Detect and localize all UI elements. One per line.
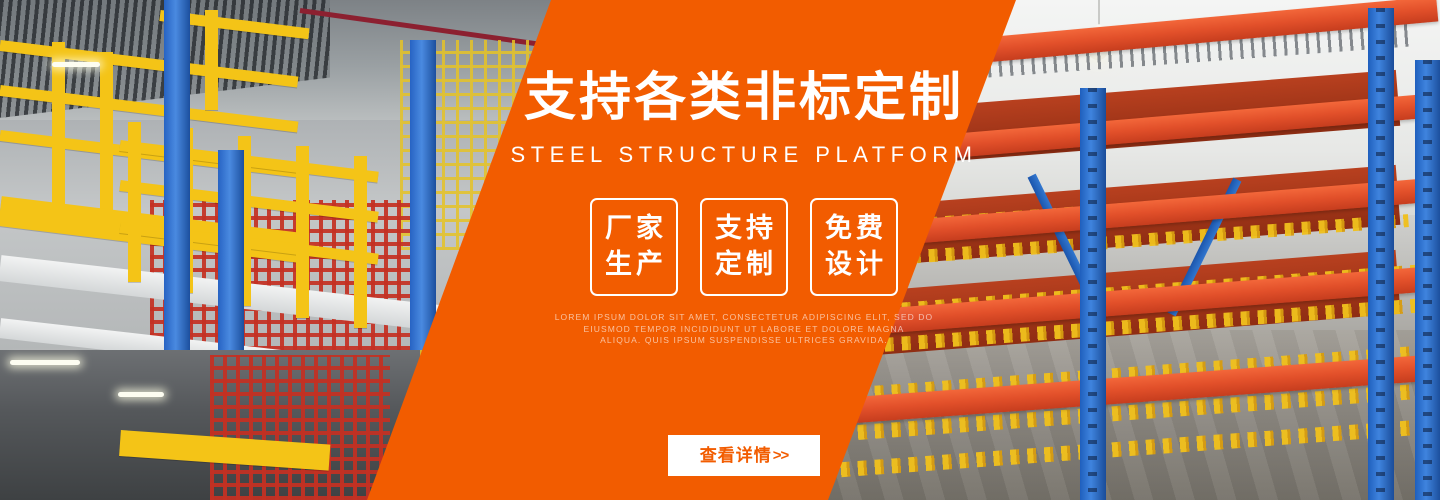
description-line-3: ALIQUA. QUIS IPSUM SUSPENDISSE ULTRICES …	[48, 335, 1440, 347]
banner-content: 支持各类非标定制 STEEL STRUCTURE PLATFORM 厂家 生产 …	[0, 0, 1440, 500]
feature-badge-customization[interactable]: 支持 定制	[700, 198, 788, 296]
badge-line-2: 生产	[601, 247, 667, 283]
promo-banner: 支持各类非标定制 STEEL STRUCTURE PLATFORM 厂家 生产 …	[0, 0, 1440, 500]
badge-line-1: 支持	[711, 211, 777, 247]
description-text: LOREM IPSUM DOLOR SIT AMET, CONSECTETUR …	[0, 312, 1440, 347]
badge-line-1: 厂家	[601, 211, 667, 247]
cta-container: 查看详情 >>	[0, 435, 1440, 476]
feature-badge-manufacturer[interactable]: 厂家 生产	[590, 198, 678, 296]
cta-label: 查看详情	[700, 447, 772, 464]
feature-badge-free-design[interactable]: 免费 设计	[810, 198, 898, 296]
badge-line-1: 免费	[821, 211, 887, 247]
double-chevron-right-icon: >>	[773, 448, 789, 463]
badge-line-2: 定制	[711, 247, 777, 283]
description-line-1: LOREM IPSUM DOLOR SIT AMET, CONSECTETUR …	[48, 312, 1440, 324]
subtitle: STEEL STRUCTURE PLATFORM	[0, 144, 1440, 166]
headline: 支持各类非标定制	[0, 72, 1440, 124]
feature-badge-group: 厂家 生产 支持 定制 免费 设计	[0, 198, 1440, 296]
view-details-button[interactable]: 查看详情 >>	[668, 435, 820, 476]
badge-line-2: 设计	[821, 247, 887, 283]
description-line-2: EIUSMOD TEMPOR INCIDIDUNT UT LABORE ET D…	[48, 324, 1440, 336]
